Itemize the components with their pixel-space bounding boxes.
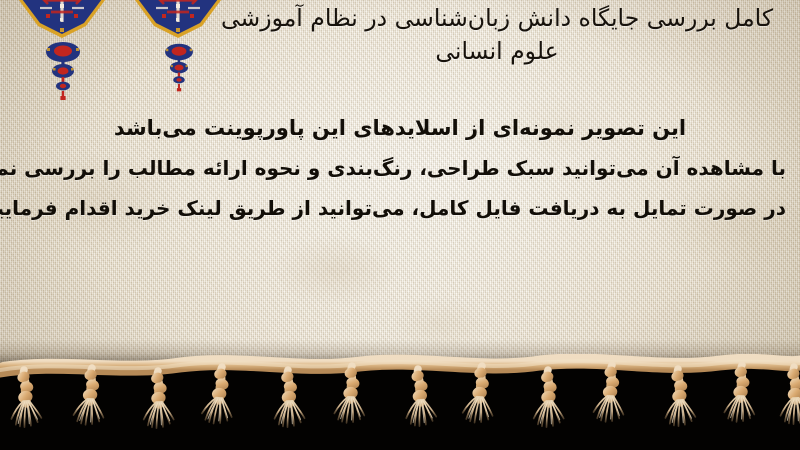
- body-line-1: این تصویر نمونه‌ای از اسلایدهای این پاور…: [14, 108, 786, 148]
- bottom-black-band: [0, 362, 800, 450]
- slide-title: کامل بررسی جایگاه دانش زبان‌شناسی در نظا…: [202, 2, 792, 69]
- slide-title-line-1: کامل بررسی جایگاه دانش زبان‌شناسی در نظا…: [202, 2, 792, 35]
- slide-title-line-2: علوم انسانی: [202, 35, 792, 68]
- body-line-2: با مشاهده آن می‌توانید سبک طراحی، رنگ‌بن…: [14, 148, 786, 188]
- body-line-3: در صورت تمایل به دریافت فایل کامل، می‌تو…: [14, 188, 786, 228]
- slide-body: این تصویر نمونه‌ای از اسلایدهای این پاور…: [14, 108, 786, 228]
- slide-canvas: کامل بررسی جایگاه دانش زبان‌شناسی در نظا…: [0, 0, 800, 450]
